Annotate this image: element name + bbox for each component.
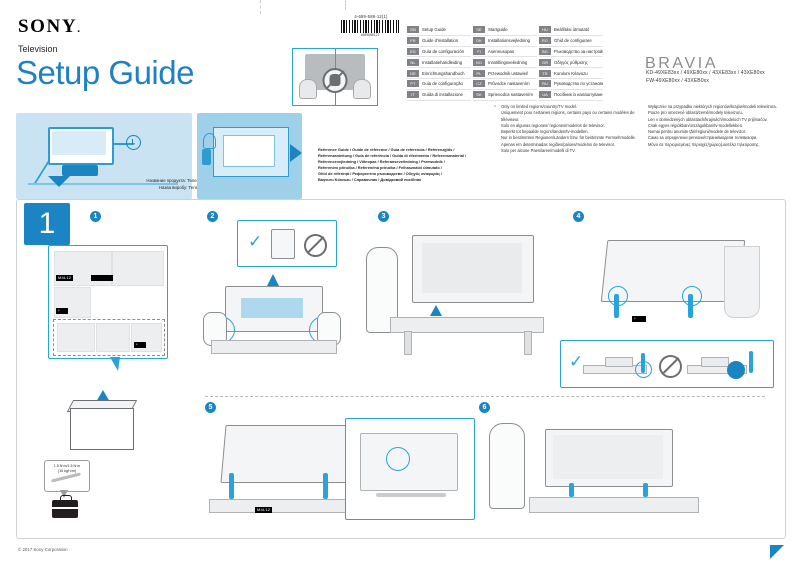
footnote-column-2: Wyłącznie na przypadku niektórych region… [648,104,800,148]
tv-wall-setup-illustration [197,113,302,199]
language-code: GR [539,59,551,66]
table-surface [209,499,353,513]
language-name: Kurulum Kılavuzu [554,71,588,76]
product-name-ua: Назва виробу: Телевізор [96,185,208,192]
language-row[interactable]: ITGuida di installazione [407,90,471,101]
check-icon: ✓ [569,353,583,370]
toolbox-icon [52,500,78,518]
substep-5-zoom-panel [345,418,475,520]
impact-burst-icon [727,361,745,379]
incorrect-tv-position [701,357,729,367]
language-name: Guide d'installation [422,38,458,43]
table-surface [211,340,337,354]
language-name: Installatiehandleiding [422,60,462,65]
crop-mark-left [260,0,261,14]
clock-icon [126,135,141,150]
tv-base-shape [62,165,98,176]
power-cord-cell [96,323,130,352]
language-name: Guia de configuração [422,81,463,86]
language-name: Průvodce nastavením [488,81,530,86]
language-row[interactable]: RUРуководство по установке [539,79,603,90]
footnote-line: Solo per alcune Paesi/aree/modelli di TV… [501,148,646,154]
step-number-badge: 1 [24,203,70,245]
language-name: Beállítási útmutató [554,27,589,32]
language-row[interactable]: UAПосібник із налаштування [539,90,603,101]
language-code: DE [407,70,419,77]
screw-label-bottom: M4L12 [255,507,272,513]
language-name: Guía de configuración [422,49,464,54]
table-surface [390,317,544,333]
optional-accessories-group: * [53,319,165,356]
substep-4-illustration: * [588,228,772,346]
torque-spec-callout: 1.5 N·m/1.5 N·m (15 kgf·cm) [44,460,90,492]
cable-tag: * [134,342,146,348]
language-row[interactable]: ROGhid de configurare [539,36,603,47]
correct-leg-highlight [635,361,652,378]
footnote-line: Nur in bestimmten Regionen/Ländern bzw. … [501,135,646,141]
language-row[interactable]: NLInstallatiehandleiding [407,57,471,68]
manual-tag: * [56,308,68,314]
crop-mark-right [345,0,346,10]
language-name: Asennusopas [488,49,514,54]
barcode-number: 4689586121 [341,33,399,37]
footnote-column-1: Only on limited regions/country/TV model… [501,104,646,154]
screw-label-top: M4L12 [56,275,73,281]
substep-3-illustration [360,225,550,375]
language-row[interactable]: HUBeállítási útmutató [539,25,603,36]
language-code: IT [407,91,419,98]
language-row[interactable]: TRKurulum Kılavuzu [539,68,603,79]
language-name: Посібник із налаштування [554,92,603,97]
copyright-notice: © 2017 Sony Corporation [18,547,68,552]
language-name: Innstillingsveiledning [488,60,527,65]
language-row[interactable]: SEStartguide [473,25,537,36]
language-code: ES [407,48,419,55]
barcode [341,20,399,33]
part-number: 4-689-586-12(1) [341,14,401,19]
arrow-right-icon [290,144,302,162]
substep-2-detail-panel: ✓ [237,220,337,267]
language-code: RO [539,37,551,44]
footnote-marker: * [494,105,496,111]
substep-4-detail-panel: ✓ [560,340,774,388]
language-name: Руководство по установке [554,81,603,86]
carton-body [70,408,134,450]
language-code: NO [473,59,485,66]
hand-left-icon [299,79,317,99]
footnote-line: Μόνο σε περιορισμένες περιοχές/χώρες/μον… [648,142,800,148]
tv-rear-shape [220,425,351,483]
language-code: PL [473,70,485,77]
language-name: Installationsvejledning [488,38,530,43]
language-name: Setup Guide [422,27,446,32]
substep-badge-4: 4 [573,211,584,222]
substep-badge-1: 1 [90,211,101,222]
language-code: CZ [473,80,485,87]
language-row[interactable]: NOInnstillingsveiledning [473,57,537,68]
stand-leg-left [569,483,574,497]
language-code: PT [407,80,419,87]
leg-right-highlight [682,286,702,306]
substep-6-illustration [479,415,739,527]
product-name-ru: Название продукта: Телевизор [96,178,208,185]
do-not-touch-screen-illustration [292,48,378,106]
language-code: FI [473,48,485,55]
person-figure [489,423,525,509]
prohibited-icon [304,234,327,257]
model-numbers: KD-49XE83xx / 49XE80xx / 43XE83xx / 43XE… [646,70,765,85]
callout-pointer [110,357,120,371]
accessory-parts-box: * M4L12 * [48,245,168,359]
language-row[interactable]: SKSprievodca nastavením [473,90,537,101]
language-code: FR [407,37,419,44]
language-name: Sprievodca nastavením [488,92,533,97]
language-column-3: HUBeállítási útmutatóROGhid de configura… [539,25,603,101]
language-code: TR [539,70,551,77]
language-code: SE [473,26,485,33]
placement-arrow-icon [430,305,442,316]
prohibited-icon [659,355,682,378]
reference-guide-line: Başvuru Kılavuzu / Справочник / Довідков… [318,177,486,183]
stand-leg-left [229,473,234,499]
language-name: Ghid de configurare [554,38,592,43]
wall-tv-screen [223,135,275,167]
language-row[interactable]: DKInstallationsvejledning [473,36,537,47]
page-title: Setup Guide [16,52,194,94]
person-figure-icon [203,133,216,149]
language-name: Einrichtungshandbuch [422,71,465,76]
language-name: Ръководство за настройка [554,49,603,54]
screw-count-tag [91,275,113,281]
correct-tv-position [605,357,633,367]
footnote-line: Uniquement pour certaines régions, certa… [501,110,646,123]
leg-part-tag: * [632,316,646,322]
tv-screen-area [553,435,663,479]
page-corner-marker [770,545,784,559]
language-code: SK [473,91,485,98]
stand-leg-right [323,473,328,499]
section-divider [205,396,765,397]
language-row[interactable]: PLPrzewodnik ustawień [473,68,537,79]
sony-logo: SONY. [18,16,82,38]
language-row[interactable]: FRGuide d'installation [407,36,471,47]
tv-screen-area [422,243,522,293]
language-code: BG [539,48,551,55]
furniture-top [529,497,699,513]
language-code: RU [539,80,551,87]
language-row[interactable]: ESGuía de configuración [407,47,471,58]
arrow-down-icon [48,176,70,187]
language-code: GB [407,26,419,33]
language-row[interactable]: GBSetup Guide [407,25,471,36]
substep-badge-2: 2 [207,211,218,222]
screw-point-highlight [386,447,410,471]
language-code: HU [539,26,551,33]
language-name: Οδηγός ρύθμισης [554,60,588,65]
language-column-2: SEStartguideDKInstallationsvejledningFIA… [473,25,537,101]
substep-badge-5: 5 [205,402,216,413]
remote-control-cell [112,251,164,286]
language-code: NL [407,59,419,66]
language-code: UA [539,91,551,98]
language-row[interactable]: FIAsennusopas [473,47,537,58]
substep-5-illustration: M4L12 [205,415,355,525]
language-name: Startguide [488,27,508,32]
language-row[interactable]: GRΟδηγός ρύθμισης [539,57,603,68]
reference-guide-languages: Reference Guide / Guide de référence / G… [318,147,486,184]
no-touch-icon [323,68,348,93]
language-row[interactable]: PTGuia de configuração [407,79,471,90]
product-name-block: Название продукта: Телевизор Назва вироб… [96,178,208,191]
protective-cloth [724,246,760,318]
table-leg-right [524,331,532,355]
tv-screen-shape [52,131,106,155]
leg-left-highlight [608,286,628,306]
incorrect-leg [749,351,753,373]
substep-2-main-illustration [197,268,345,368]
language-name: Guida di installazione [422,92,463,97]
carton-unpack-illustration [48,390,166,452]
language-row[interactable]: CZPrůvodce nastavením [473,79,537,90]
language-name: Przewodnik ustawień [488,71,528,76]
hand-right-icon [353,79,371,99]
substep-badge-3: 3 [378,211,389,222]
screwdriver-shaft [376,493,446,497]
language-row[interactable]: BGРъководство за настройка [539,47,603,58]
substep-badge-6: 6 [479,402,490,413]
model-line-1: KD-49XE83xx / 49XE80xx / 43XE83xx / 43XE… [646,70,765,78]
language-row[interactable]: DEEinrichtungshandbuch [407,68,471,79]
check-icon: ✓ [248,233,262,250]
language-code: DK [473,37,485,44]
language-column-1: GBSetup GuideFRGuide d'installationESGuí… [407,25,471,101]
stand-leg-right [643,483,648,497]
insert-arrow-icon [267,274,279,286]
plant-icon [202,149,211,165]
table-leg-left [404,331,412,355]
model-line-2: FW-49XE80xx / 43XEB0xx [646,78,765,86]
stand-insert-zone [241,298,303,318]
correct-hand-grip-illustration [271,229,295,259]
ac-adapter-cell [57,323,95,352]
